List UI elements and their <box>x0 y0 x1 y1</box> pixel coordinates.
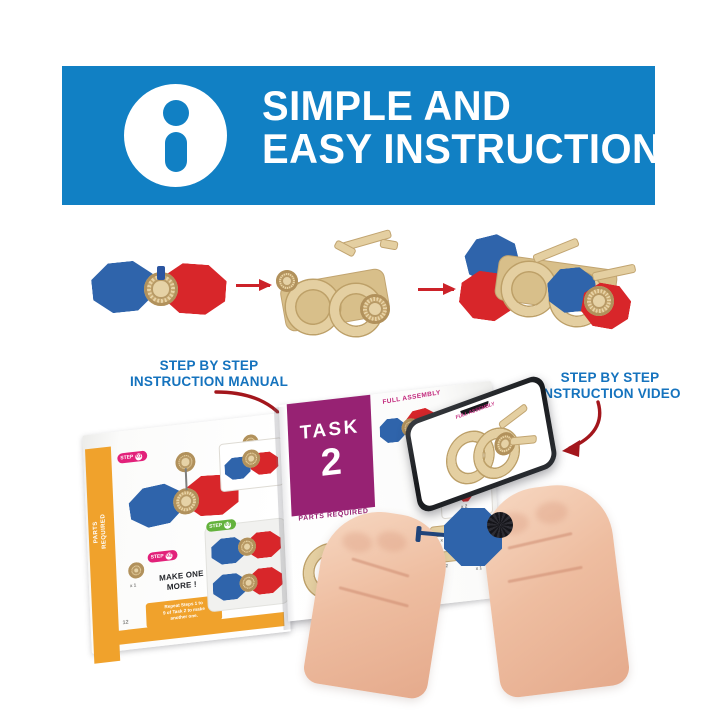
phone-temple-arm-2 <box>510 435 537 446</box>
callout-manual-line1: STEP BY STEP <box>84 358 334 374</box>
header-banner: SIMPLE AND EASY INSTRUCTIONS <box>62 66 655 205</box>
assembly-stage-2 <box>276 230 416 342</box>
sidebar-strip-label: PARTS REQUIRED <box>91 481 110 583</box>
assembly-stage-1 <box>92 250 232 320</box>
axle-pin <box>157 266 165 280</box>
task-number: 2 <box>289 439 374 487</box>
part-washer-left-margin <box>128 561 145 579</box>
step-badge-03-label: STEP <box>209 522 222 529</box>
black-gear-in-hand <box>487 512 513 538</box>
step-badge-01-number: 01 <box>135 452 142 460</box>
temple-arm-tip <box>379 239 398 251</box>
assembly-arrow-1 <box>236 284 270 287</box>
callout-video-line1: STEP BY STEP <box>520 370 700 386</box>
task-block: TASK 2 <box>287 395 375 517</box>
page-number-left: 12 <box>122 620 128 627</box>
page-sidebar-strip: PARTS REQUIRED <box>85 446 120 663</box>
assembled-temple-arm-1 <box>532 237 580 263</box>
sidebar-label-line2: REQUIRED <box>100 514 107 550</box>
book-page-left: PARTS REQUIRED 12 STEP01 x 1 <box>82 413 290 654</box>
header-title: SIMPLE AND EASY INSTRUCTIONS <box>262 84 623 171</box>
frame-gear-large <box>360 294 390 324</box>
header-title-line2: EASY INSTRUCTIONS <box>262 127 623 170</box>
assembly-stage-3 <box>458 228 636 344</box>
info-circle-icon <box>124 84 227 187</box>
assembly-sequence <box>0 222 715 352</box>
header-title-line1: SIMPLE AND <box>262 84 623 127</box>
frame-gear-small <box>276 270 298 292</box>
part-tag-bracket: x 1 <box>476 565 483 571</box>
step-badge-01: STEP01 <box>117 450 147 463</box>
step-badge-01-label: STEP <box>120 453 133 460</box>
sidebar-label-line1: PARTS <box>93 521 100 544</box>
step-badge-03-number: 03 <box>224 521 231 529</box>
step-badge-02-label: STEP <box>150 553 163 560</box>
step-badge-02-number: 02 <box>165 552 172 560</box>
assembled-gear <box>584 286 614 316</box>
assembly-arrow-2 <box>418 288 454 291</box>
infographic-canvas: SIMPLE AND EASY INSTRUCTIONS <box>0 0 715 715</box>
step-badge-02: STEP02 <box>147 550 177 563</box>
full-assembly-label: FULL ASSEMBLY <box>382 389 441 406</box>
phone-temple-arm <box>498 403 529 430</box>
preview-card <box>219 437 285 492</box>
make-one-more-line2: MORE ! <box>167 580 197 592</box>
part-tag-washer: x 1 <box>130 582 137 588</box>
